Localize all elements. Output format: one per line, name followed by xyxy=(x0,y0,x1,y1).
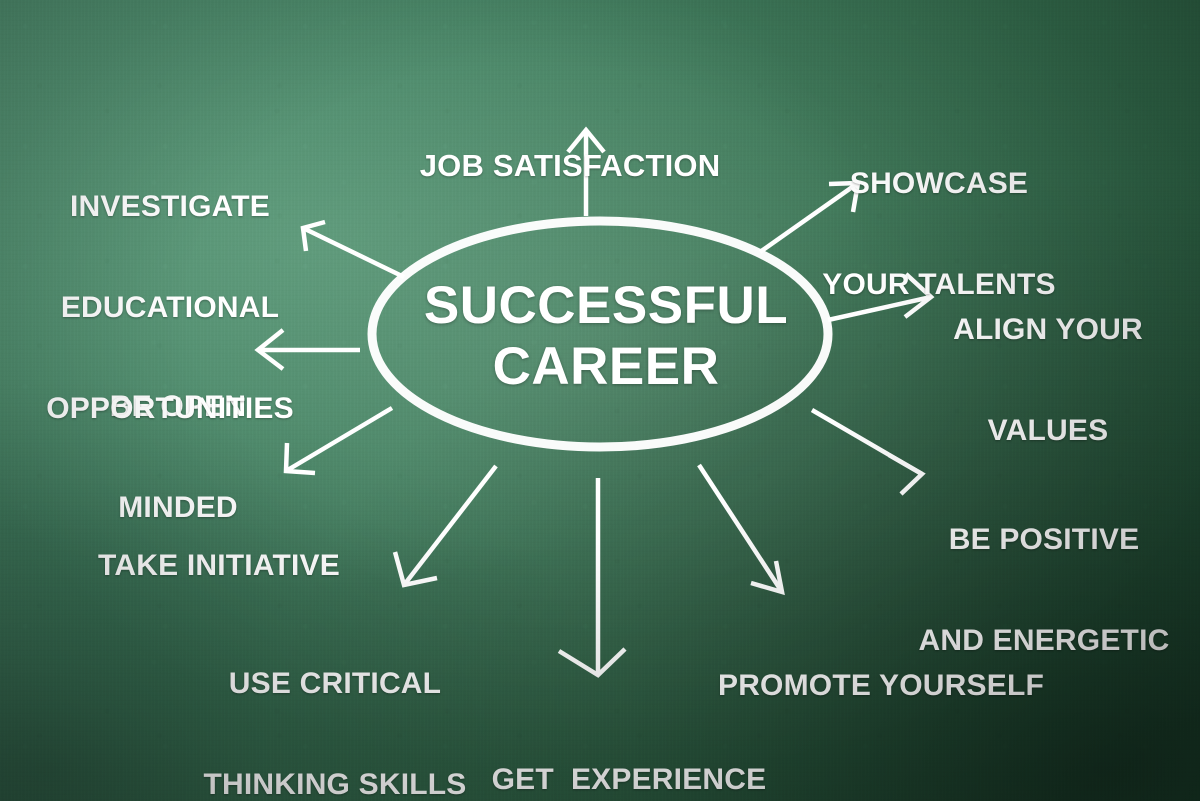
label-job-satisfaction: JOB SATISFACTION xyxy=(400,80,740,254)
label-line: BE POSITIVE xyxy=(898,523,1190,557)
label-line: MINDED xyxy=(86,491,270,525)
label-line: JOB SATISFACTION xyxy=(400,149,740,184)
label-line: GET EXPERIENCE xyxy=(458,763,800,797)
center-line-2: CAREER xyxy=(493,337,720,396)
label-investigate-educational-opportunities: INVESTIGATE EDUCATIONAL OPPORTUNITIES xyxy=(24,123,316,493)
center-node-label: SUCCESSFUL CAREER xyxy=(376,275,836,398)
label-line: USE CRITICAL xyxy=(186,667,484,701)
arrow-investigate-educational-opportunities xyxy=(303,222,404,277)
label-line: OPPORTUNITIES xyxy=(24,392,316,426)
label-line: EDUCATIONAL xyxy=(24,291,316,325)
label-line: ALIGN YOUR xyxy=(912,313,1184,347)
arrow-use-critical-thinking-skills xyxy=(395,466,496,585)
label-line: INVESTIGATE xyxy=(24,190,316,224)
center-line-1: SUCCESSFUL xyxy=(424,276,788,335)
label-get-experience: GET EXPERIENCE xyxy=(458,696,800,801)
arrow-get-experience xyxy=(559,478,625,675)
label-line: THINKING SKILLS xyxy=(186,768,484,801)
label-line: VALUES xyxy=(912,414,1184,448)
mind-map-canvas: SUCCESSFUL CAREER JOB SATISFACTION SHOWC… xyxy=(0,0,1200,801)
label-line: SHOWCASE xyxy=(800,167,1078,201)
arrow-promote-yourself xyxy=(699,465,782,592)
